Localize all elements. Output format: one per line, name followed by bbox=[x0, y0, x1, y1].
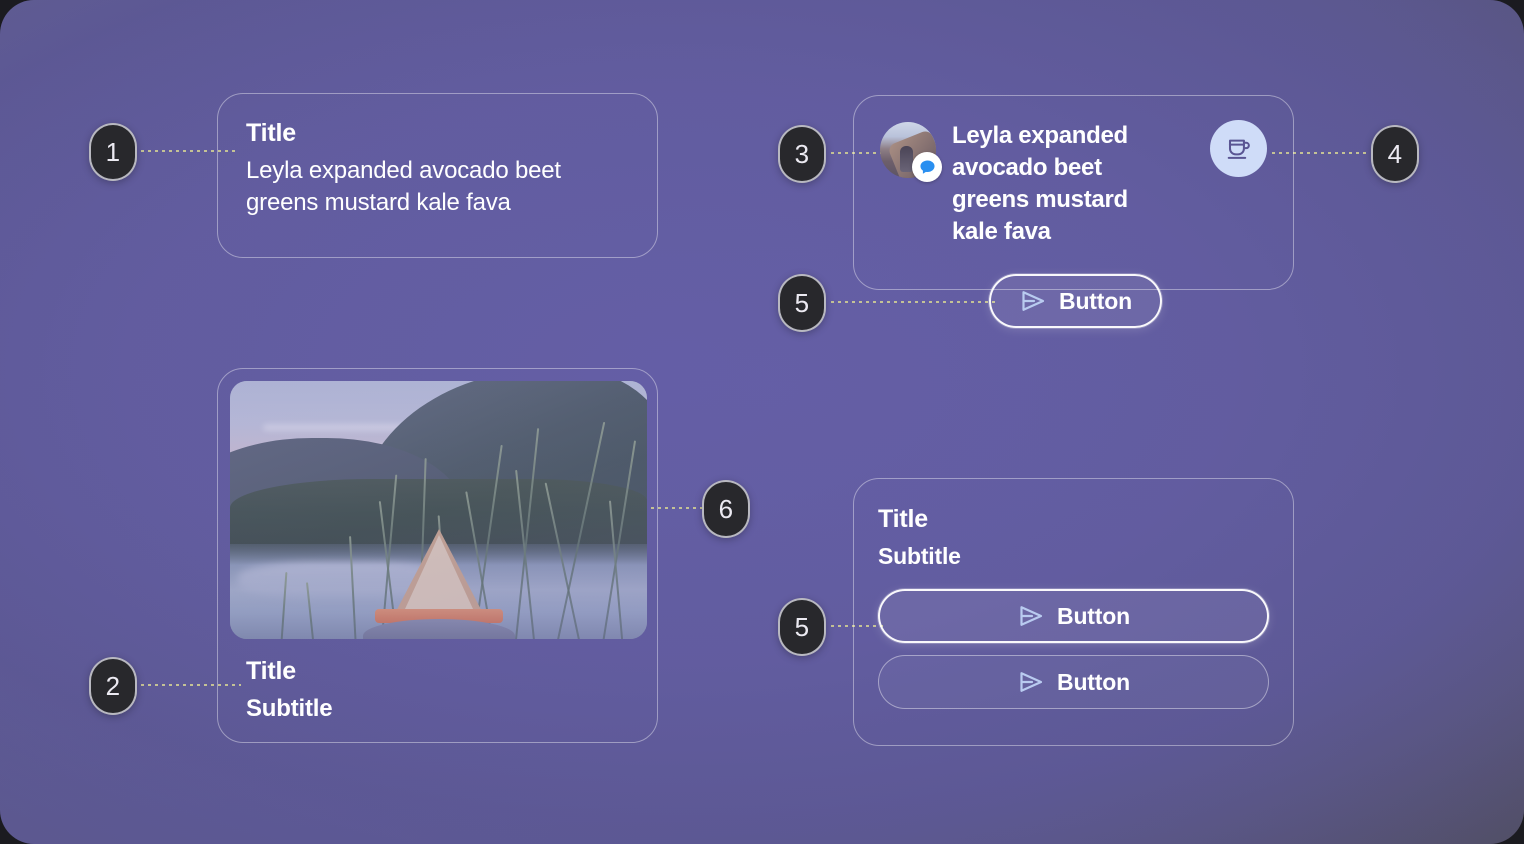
annotation-badge-3[interactable]: 3 bbox=[778, 125, 826, 183]
card-four-primary-button-label: Button bbox=[1057, 603, 1130, 630]
annotation-badge-5-top[interactable]: 5 bbox=[778, 274, 826, 332]
card-two-media[interactable] bbox=[230, 381, 647, 639]
send-icon bbox=[1017, 604, 1045, 628]
card-actions[interactable]: Title Subtitle Button bbox=[853, 478, 1294, 746]
annotation-board: 1 2 3 4 5 5 6 Title Leyla expanded avoca… bbox=[0, 0, 1524, 844]
card-one-title: Title bbox=[246, 120, 629, 148]
annotation-badge-6[interactable]: 6 bbox=[702, 480, 750, 538]
card-three-avatar[interactable] bbox=[880, 122, 936, 178]
card-one-body: Leyla expanded avocado beet greens musta… bbox=[246, 155, 629, 220]
card-three-button[interactable]: Button bbox=[989, 274, 1162, 328]
card-four-title: Title bbox=[878, 505, 1269, 534]
connector-5-top bbox=[831, 301, 996, 303]
coffee-cup-icon[interactable] bbox=[1210, 120, 1267, 177]
card-text[interactable]: Title Leyla expanded avocado beet greens… bbox=[217, 93, 658, 258]
card-three-text: Leyla expanded avocado beet greens musta… bbox=[952, 120, 1167, 249]
card-four-subtitle: Subtitle bbox=[878, 543, 1269, 570]
card-three-row: Leyla expanded avocado beet greens musta… bbox=[880, 120, 1267, 249]
card-media[interactable]: Title Subtitle bbox=[217, 368, 658, 743]
annotation-badge-4[interactable]: 4 bbox=[1371, 125, 1419, 183]
card-two-subtitle: Subtitle bbox=[246, 695, 629, 723]
card-three-button-label: Button bbox=[1059, 288, 1132, 315]
card-four-secondary-button[interactable]: Button bbox=[878, 655, 1269, 709]
send-icon bbox=[1019, 289, 1047, 313]
chat-bubble-icon bbox=[912, 152, 942, 182]
card-two-meta: Title Subtitle bbox=[230, 639, 645, 723]
card-four-secondary-button-label: Button bbox=[1057, 669, 1130, 696]
send-icon bbox=[1017, 670, 1045, 694]
kayak-icon bbox=[359, 529, 519, 639]
card-two-title: Title bbox=[246, 657, 629, 686]
card-four-actions: Button Button bbox=[878, 589, 1269, 709]
card-four-primary-button[interactable]: Button bbox=[878, 589, 1269, 643]
annotation-badge-1[interactable]: 1 bbox=[89, 123, 137, 181]
annotation-badge-5-bottom[interactable]: 5 bbox=[778, 598, 826, 656]
card-avatar-message[interactable]: Leyla expanded avocado beet greens musta… bbox=[853, 95, 1294, 290]
annotation-badge-2[interactable]: 2 bbox=[89, 657, 137, 715]
